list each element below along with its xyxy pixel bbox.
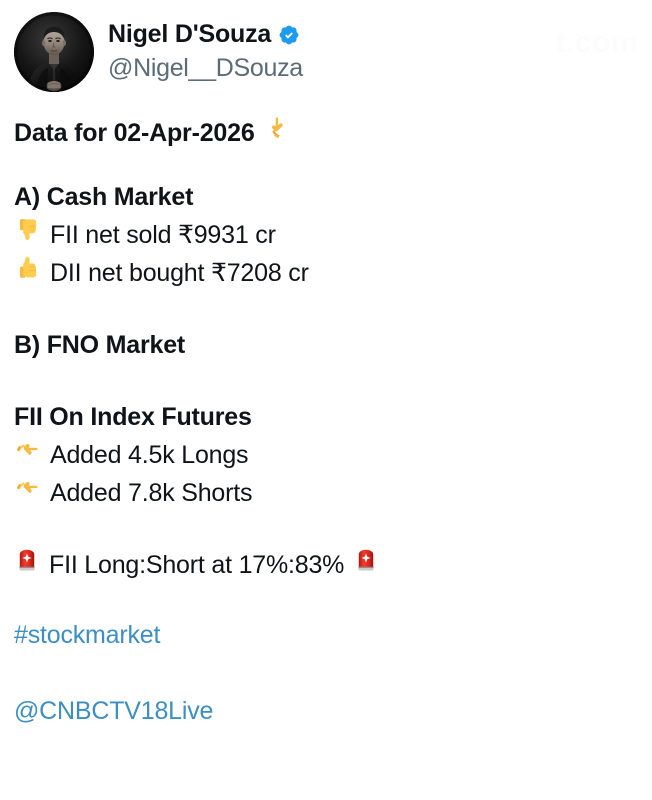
rotating-light-emoji: [353, 547, 379, 573]
section-a-heading: A) Cash Market: [14, 178, 638, 216]
fno-row: Added 4.5k Longs: [14, 436, 638, 474]
rotating-light-emoji: [14, 547, 40, 573]
author-identity: Nigel D'Souza @Nigel__DSouza: [108, 12, 303, 83]
verified-badge-icon: [278, 24, 300, 46]
footer-links: #stockmarket @CNBCTV18Live: [0, 584, 652, 730]
fii-long-short-alert: FII Long:Short at 17%:83%: [14, 546, 638, 584]
hashtag-link[interactable]: #stockmarket: [14, 616, 160, 654]
cash-market-row: DII net bought ₹7208 cr: [14, 254, 638, 292]
tweet-title-line: Data for 02-Apr-2026: [14, 114, 638, 152]
avatar[interactable]: [14, 12, 94, 92]
tweet-card: t.com: [0, 0, 652, 800]
display-name: Nigel D'Souza: [108, 22, 271, 47]
cash-market-row: FII net sold ₹9931 cr: [14, 216, 638, 254]
fno-row: Added 7.8k Shorts: [14, 474, 638, 512]
section-b-subheading: FII On Index Futures: [14, 398, 638, 436]
section-b-heading: B) FNO Market: [14, 326, 638, 364]
fii-long-short-text: FII Long:Short at 17%:83%: [49, 546, 344, 584]
thumbs-up-emoji: [14, 254, 41, 281]
point-right-emoji: [14, 436, 41, 463]
author-handle: @Nigel__DSouza: [108, 54, 303, 83]
mention-link[interactable]: @CNBCTV18Live: [14, 692, 213, 730]
thumbs-down-emoji: [14, 216, 41, 243]
fno-row-text: Added 7.8k Shorts: [50, 474, 252, 512]
tweet-header: Nigel D'Souza @Nigel__DSouza: [0, 0, 652, 92]
fno-row-text: Added 4.5k Longs: [50, 436, 248, 474]
tweet-title: Data for 02-Apr-2026: [14, 114, 255, 152]
point-right-emoji: [14, 474, 41, 501]
point-down-emoji: [264, 114, 291, 141]
cash-market-row-text: FII net sold ₹9931 cr: [50, 216, 276, 254]
tweet-body: Data for 02-Apr-2026 A) Cash Market FII …: [0, 114, 652, 584]
avatar-photo: [14, 12, 94, 92]
cash-market-row-text: DII net bought ₹7208 cr: [50, 254, 309, 292]
author-name-row: Nigel D'Souza: [108, 22, 303, 47]
